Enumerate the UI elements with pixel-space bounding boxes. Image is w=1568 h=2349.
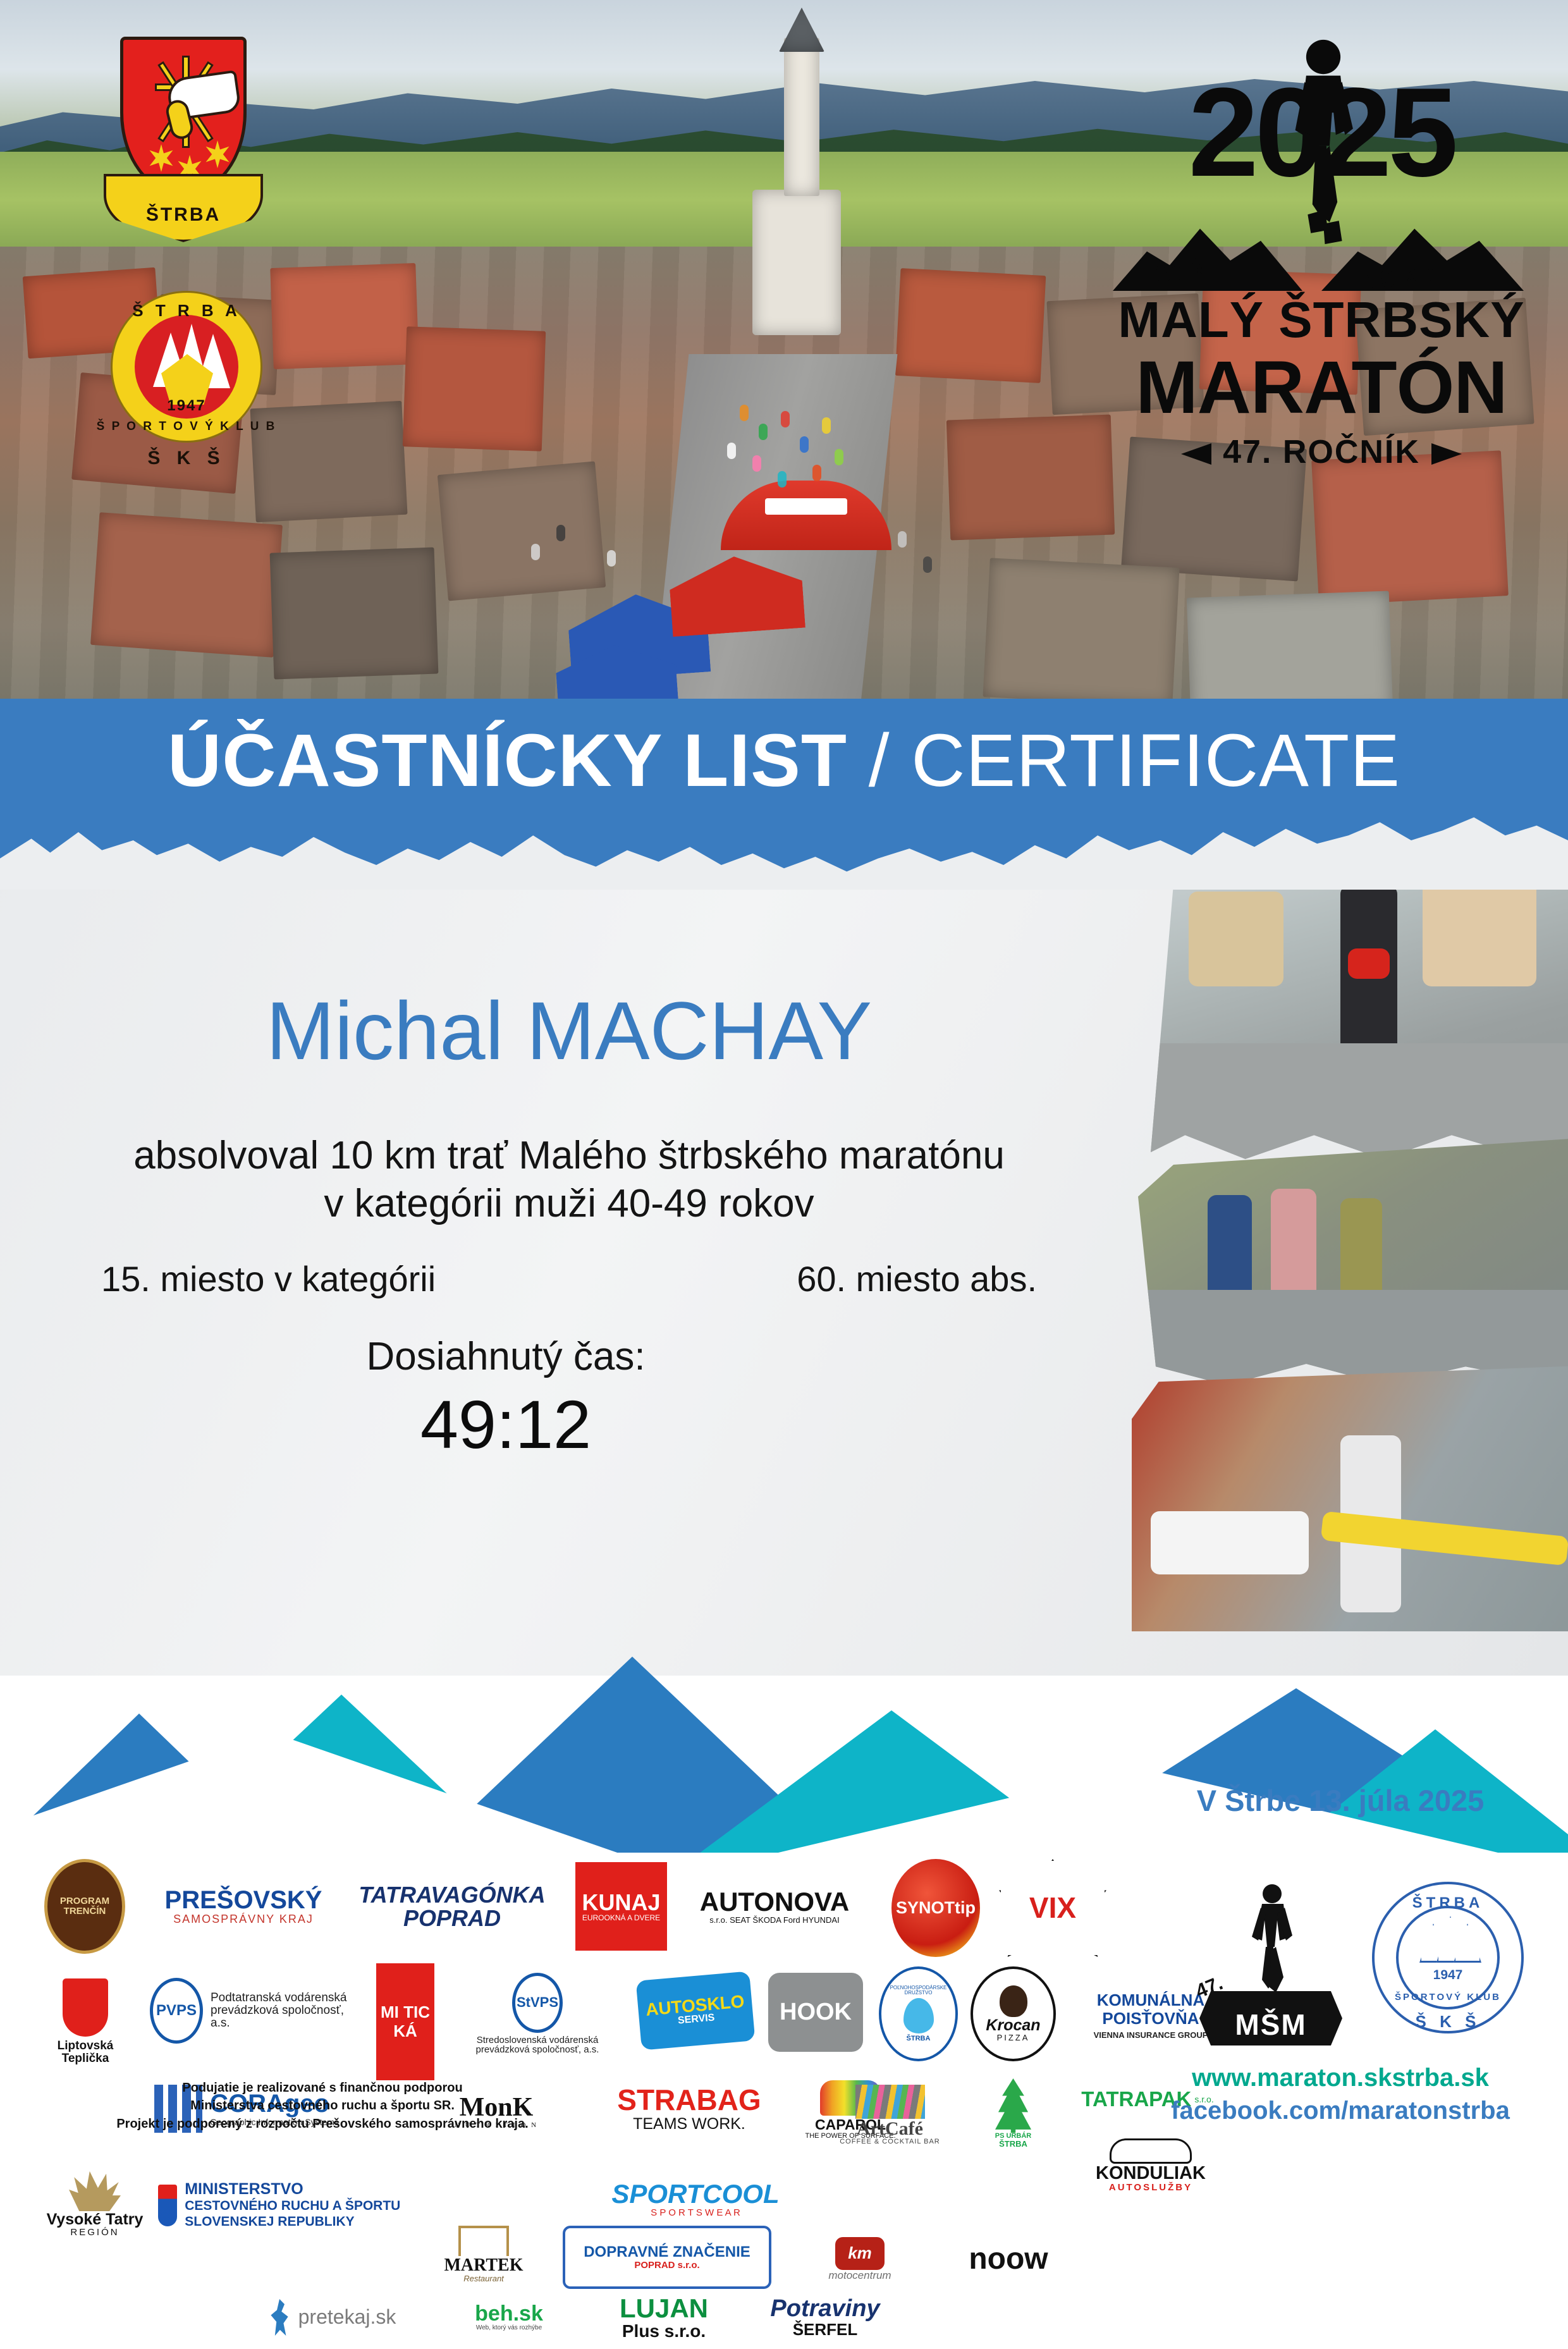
sponsor-kunaj: KUNAJ EUROOKNÁ A DVERE: [575, 1862, 667, 1951]
msm-logo: 47. MŠM: [1192, 1881, 1350, 2045]
sponsor-label: Krocan: [986, 2017, 1040, 2033]
sks-abbrev-label: Š K Š: [1366, 2012, 1530, 2032]
sponsor-vix: VIX: [999, 1859, 1106, 1957]
sponsor-sublabel: Plus s.r.o.: [622, 2322, 706, 2340]
crowd-runner: [835, 449, 843, 465]
sponsor-label: pretekaj.sk: [298, 2307, 396, 2328]
roof: [946, 415, 1115, 541]
place-absolute: 60. miesto abs.: [797, 1258, 1037, 1299]
sponsor-stvps: StVPS Stredoslovenská vodárenská prevádz…: [449, 1973, 626, 2055]
participant-name: Michal MACHAY: [76, 983, 1062, 1078]
cutlery-icon: [458, 2226, 509, 2256]
sponsor-sublabel: EUROOKNÁ A DVERE: [582, 1914, 660, 1922]
certificate-title-banner: ÚČASTNÍCKY LIST / CERTIFICATE: [0, 699, 1568, 888]
roof: [270, 548, 439, 680]
sponsor-grid: PROGRAM TRENČÍN PREŠOVSKÝ SAMOSPRÁVNY KR…: [32, 1783, 1106, 2112]
sponsor-label: POĽNOHOSPODÁRSKE DRUŽSTVO: [881, 1985, 955, 1996]
crowd-runner: [822, 417, 831, 434]
msm-abbrev: MŠM: [1192, 2008, 1350, 2042]
sponsor-sublabel: Web, ktorý vás rozhýbe: [476, 2325, 542, 2331]
crowd-runner: [740, 405, 749, 421]
banner-jagged-edge: [0, 807, 1568, 890]
sks-top-label: ŠTRBA: [1366, 1894, 1530, 1912]
sks-abbrev-label: Š K Š: [95, 448, 278, 469]
sponsor-label: DOPRAVNÉ ZNAČENIE: [584, 2245, 750, 2260]
sponsor-miticka: MI TIC KÁ: [376, 1963, 434, 2080]
sponsor-sublabel: ŠERFEL: [793, 2321, 858, 2338]
sponsor-autonova: AUTONOVA s.r.o. SEAT ŠKODA Ford HYUNDAI: [683, 1862, 866, 1951]
sponsor-potraviny-serfel: Potraviny ŠERFEL: [746, 2286, 904, 2349]
credit-line-1: Podujatie je realizované s finančnou pod…: [38, 2079, 607, 2097]
sponsor-sublabel: CESTOVNÉHO RUCHU A ŠPORTU SLOVENSKEJ REP…: [185, 2199, 411, 2230]
sks-club-label: Š P O R T O V Ý K L U B: [95, 420, 278, 434]
event-edition: 47. ROČNÍK: [1100, 433, 1543, 471]
footer-right-column: V Štrbe 13. júla 2025 47. MŠM: [1132, 1770, 1549, 2213]
crowd-runner: [752, 455, 761, 472]
photo-winner-tape: [1132, 1366, 1568, 1631]
sponsor-dopravne-znacenie: DOPRAVNÉ ZNAČENIE POPRAD s.r.o.: [563, 2226, 771, 2289]
sponsor-sublabel: Podtatranská vodárenská prevádzková spol…: [211, 1992, 350, 2029]
crowd-runner: [778, 471, 787, 488]
crowd-spectator: [607, 550, 616, 567]
sponsor-vysoke-tatry: Vysoké Tatry REGIÓN: [44, 2156, 145, 2251]
tree-icon: [994, 2078, 1033, 2133]
sks-club-emblem: Š T R B A 1947 Š P O R T O V Ý K L U B Š…: [95, 285, 278, 493]
msm-runner-icon: [1230, 1881, 1312, 2008]
crowd-runner: [781, 411, 790, 427]
sponsor-sublabel: S P O R T S W E A R: [651, 2208, 740, 2218]
sponsor-label: beh.sk: [475, 2303, 543, 2325]
roof: [895, 268, 1046, 383]
artcafe-stripes-icon: [855, 2085, 925, 2119]
pvps-oval-icon: PVPS: [150, 1978, 203, 2044]
turkey-icon: [1000, 1985, 1027, 2017]
photo-runners-122-135: [1138, 1138, 1568, 1404]
sponsor-sublabel: PIZZA: [997, 2033, 1030, 2042]
sponsor-label: TATRAVAGÓNKA: [358, 1883, 545, 1906]
sponsor-label: PREŠOVSKÝ: [165, 1887, 322, 1914]
sponsor-label: VIX: [1029, 1893, 1076, 1923]
participant-description: absolvoval 10 km trať Malého štrbského m…: [63, 1132, 1075, 1227]
triangle-right-icon: [1431, 443, 1462, 465]
crowd-runner: [759, 424, 768, 440]
event-name-line2: MARATÓN: [1100, 345, 1543, 431]
crowd-runner: [727, 443, 736, 459]
sponsor-autosklo-servis: AUTOSKLO SERVIS: [636, 1971, 756, 2050]
sks-footer-logo: ŠTRBA 1947 ŠPORTOVÝ KLUB Š K Š: [1366, 1878, 1530, 2049]
description-line-2: v kategórii muži 40-49 rokov: [63, 1180, 1075, 1228]
sponsor-label: MARTEK: [444, 2256, 523, 2274]
km-badge-icon: km: [835, 2237, 885, 2270]
contact-links: www.maraton.skstrba.sk facebook.com/mara…: [1132, 2061, 1549, 2127]
sponsor-sublabel: SERVIS: [677, 2013, 715, 2027]
sponsor-label: AUTONOVA: [700, 1888, 849, 1916]
sponsor-sublabel: Teplička: [62, 2052, 109, 2065]
facebook-link[interactable]: facebook.com/maratonstrba: [1132, 2094, 1549, 2127]
crowd-runner: [812, 465, 821, 481]
sponsor-pvps: PVPS Podtatranská vodárenská prevádzková…: [142, 1973, 357, 2049]
banner-title: ÚČASTNÍCKY LIST / CERTIFICATE: [0, 718, 1568, 804]
slovak-crest-icon: [158, 2185, 177, 2226]
sponsor-sublabel: POPRAD s.r.o.: [634, 2260, 699, 2271]
crowd-spectator: [923, 556, 932, 573]
photo-collage: [1113, 822, 1568, 1631]
runners-icon: [268, 2299, 293, 2336]
sponsor-label: SPORTCOOL: [611, 2180, 779, 2208]
sponsor-label: KUNAJ: [582, 1891, 660, 1914]
roof: [270, 263, 419, 369]
photo-house: [1189, 892, 1283, 986]
sponsor-label: Liptovská: [58, 2040, 114, 2052]
strba-coat-of-arms: ŠTRBA: [107, 25, 259, 253]
sponsor-label: ArtCafé: [857, 2119, 923, 2138]
sponsor-sublabel: COFFEE & COCKTAIL BAR: [840, 2138, 940, 2145]
sks-top-label: Š T R B A: [95, 301, 278, 321]
sponsor-liptovska-teplicka: Liptovská Teplička: [44, 1966, 126, 2077]
sponsor-label: MI TIC KÁ: [376, 2003, 434, 2041]
time-label: Dosiahnutý čas:: [76, 1334, 936, 1379]
sponsor-label: LUJAN: [620, 2295, 708, 2322]
church-tower: [784, 38, 819, 196]
hero-photo-banner: ŠTRBA Š T R B A 1947 Š P O R T O V Ý K L…: [0, 0, 1568, 708]
sponsor-sublabel: Restaurant: [463, 2274, 504, 2283]
photo-house: [1423, 879, 1536, 986]
sponsor-label: SYNOTtip: [896, 1899, 976, 1917]
place-in-category: 15. miesto v kategórii: [101, 1258, 436, 1299]
sponsor-sublabel: Stredoslovenská vodárenská prevádzková s…: [449, 2035, 626, 2055]
sponsor-synottip: SYNOTtip: [891, 1859, 980, 1957]
sponsor-lujan-plus: LUJAN Plus s.r.o.: [601, 2286, 727, 2349]
sponsor-km-motocentrum: km motocentrum: [800, 2226, 920, 2292]
event-name-line1: MALÝ ŠTRBSKÝ: [1100, 291, 1543, 349]
event-date: V Štrbe 13. júla 2025: [1132, 1783, 1549, 1818]
roof: [90, 512, 283, 658]
coa-name-banner: ŠTRBA: [104, 174, 263, 242]
credit-line-2: Ministerstva cestovného ruchu a športu S…: [38, 2097, 607, 2114]
sponsor-pd-strba: POĽNOHOSPODÁRSKE DRUŽSTVO ŠTRBA: [879, 1966, 958, 2061]
event-logo: 2025 31 km 10 km MALÝ ŠTRBSKÝ MARATÓN 47…: [1100, 25, 1543, 645]
coa-name-text: ŠTRBA: [106, 204, 260, 226]
sponsor-martek: MARTEK Restaurant: [424, 2219, 544, 2289]
sponsor-sublabel: REGIÓN: [70, 2228, 119, 2238]
roof: [403, 326, 546, 451]
sponsor-label: STRABAG: [617, 2085, 761, 2116]
crowd-spectator: [556, 525, 565, 541]
sks-year-label: 1947: [1366, 1968, 1530, 1983]
sponsor-label: MINISTERSTVO: [185, 2180, 303, 2199]
footer: PROGRAM TRENČÍN PREŠOVSKÝ SAMOSPRÁVNY KR…: [0, 1859, 1568, 2218]
sponsor-krocan-pizza: Krocan PIZZA: [971, 1966, 1056, 2061]
time-value: 49:12: [76, 1385, 936, 1464]
triangle-left-icon: [1181, 443, 1211, 465]
sponsor-sublabel: motocentrum: [828, 2270, 891, 2281]
photo-banner: [1151, 1511, 1309, 1574]
sponsor-strabag: STRABAG TEAMS WORK.: [601, 2074, 778, 2144]
edition-text: 47. ROČNÍK: [1223, 434, 1420, 470]
website-link[interactable]: www.maraton.skstrba.sk: [1132, 2061, 1549, 2094]
sponsor-sportcool: SPORTCOOL S P O R T S W E A R: [601, 2162, 790, 2235]
sponsor-label: Vysoké Tatry: [47, 2211, 144, 2228]
title-english: CERTIFICATE: [911, 719, 1400, 802]
photo-bib: [1348, 948, 1390, 979]
sponsor-crest: [63, 1978, 108, 2037]
sponsor-sublabel: SAMOSPRÁVNY KRAJ: [173, 1913, 314, 1925]
sponsor-beh-sk: beh.sk Web, ktorý vás rozhýbe: [436, 2289, 582, 2346]
sponsor-ministerstvo: MINISTERSTVO CESTOVNÉHO RUCHU A ŠPORTU S…: [158, 2159, 411, 2251]
sponsor-sublabel: s.r.o. SEAT ŠKODA Ford HYUNDAI: [709, 1916, 839, 1925]
sponsor-program-trencin: PROGRAM TRENČÍN: [44, 1859, 125, 1954]
sponsor-label: PROGRAM TRENČÍN: [47, 1896, 122, 1916]
sponsor-label: Potraviny: [770, 2297, 879, 2322]
sponsor-artcafe: ArtCafé COFFEE & COCKTAIL BAR: [822, 2077, 958, 2153]
crowd-spectator: [898, 531, 907, 548]
chamois-icon: [69, 2169, 121, 2211]
mountain-silhouettes: 31 km 10 km: [1113, 215, 1530, 297]
sks-club-label: ŠPORTOVÝ KLUB: [1366, 1992, 1530, 2002]
stvps-oval-icon: StVPS: [512, 1973, 563, 2033]
sponsor-presovsky-kraj: PREŠOVSKÝ SAMOSPRÁVNY KRAJ: [149, 1868, 338, 1944]
sponsor-sublabel: POPRAD: [403, 1906, 501, 1930]
church-building: [752, 190, 841, 335]
sponsor-sublabel: ŠTRBA: [907, 2035, 931, 2042]
crowd-spectator: [531, 544, 540, 560]
sponsor-pretekaj-sk: pretekaj.sk: [253, 2289, 411, 2346]
sks-year-label: 1947: [95, 397, 278, 415]
sponsor-noow: noow: [948, 2229, 1069, 2289]
sponsor-sublabel: TEAMS WORK.: [633, 2116, 745, 2132]
sponsor-tatravagonka-poprad: TATRAVAGÓNKA POPRAD: [357, 1868, 547, 1944]
sponsor-label: noow: [969, 2243, 1048, 2275]
pd-drop-icon: [903, 1998, 934, 2033]
sponsor-sublabel: ŠTRBA: [999, 2140, 1027, 2149]
crowd-runner: [800, 436, 809, 453]
credit-line-3: Projekt je podporený z rozpočtu Prešovsk…: [38, 2115, 607, 2133]
description-line-1: absolvoval 10 km trať Malého štrbského m…: [63, 1132, 1075, 1180]
sponsor-label: HOOK: [780, 2000, 852, 2025]
placement-row: 15. miesto v kategórii 60. miesto abs.: [76, 1258, 1062, 1299]
roof: [438, 461, 606, 601]
title-slovak: ÚČASTNÍCKY LIST: [168, 719, 847, 802]
sponsor-hook: HOOK: [768, 1973, 863, 2052]
title-separator: /: [847, 719, 911, 802]
funding-credit: Podujatie je realizované s finančnou pod…: [38, 2079, 607, 2133]
sponsor-ps-urbar-strba: PS URBÁR ŠTRBA: [967, 2071, 1059, 2156]
